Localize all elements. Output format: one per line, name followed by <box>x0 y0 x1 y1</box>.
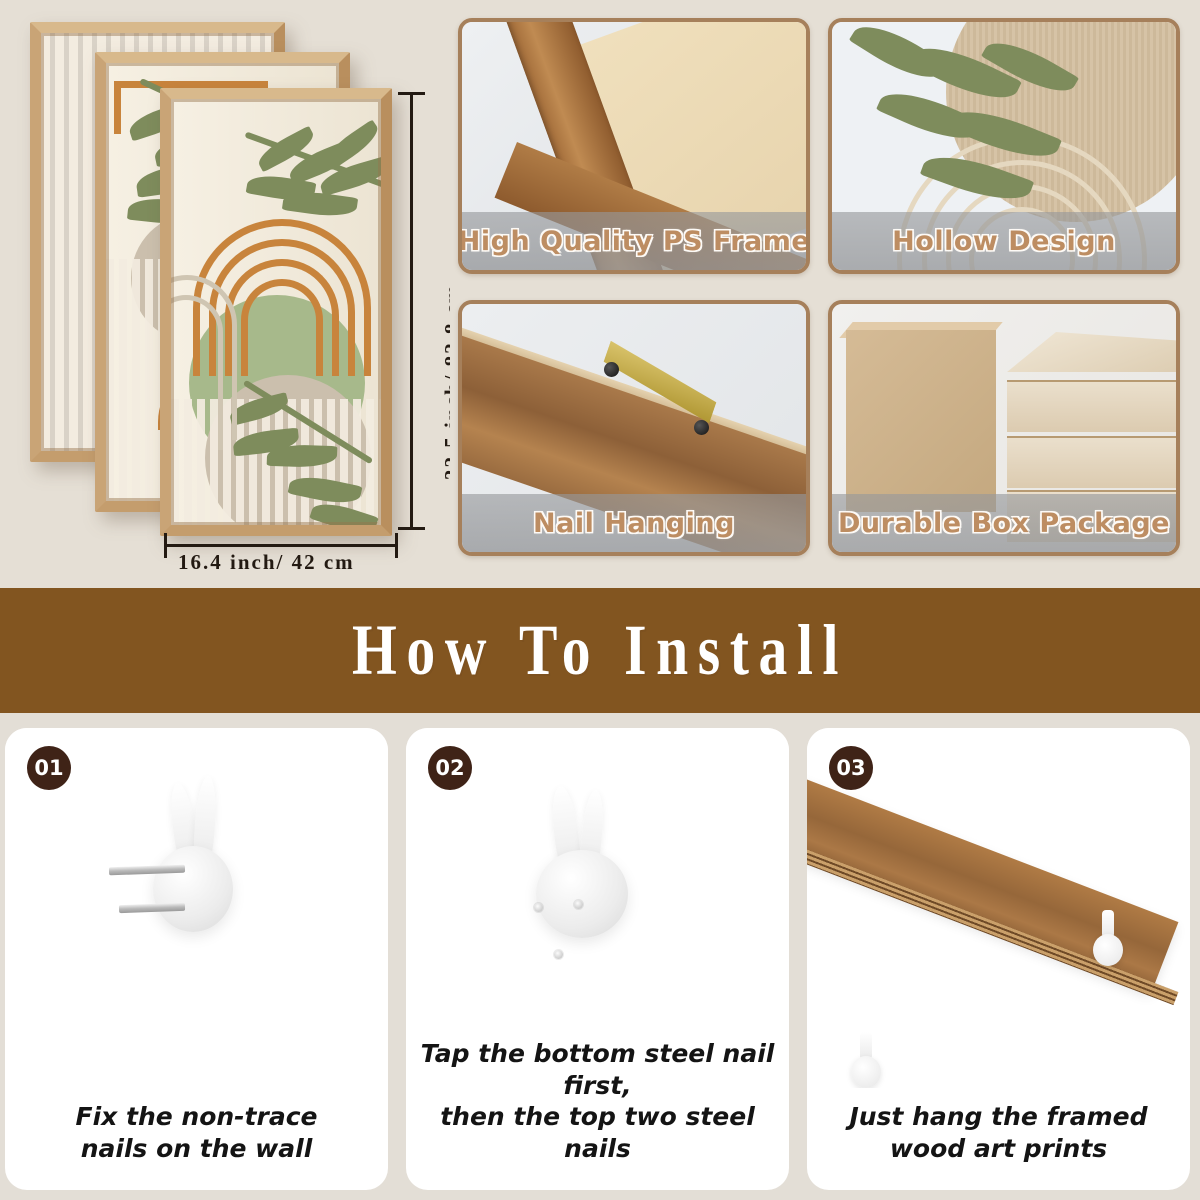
hook-body-icon <box>153 846 233 932</box>
width-dimension-cap-right <box>395 533 398 558</box>
step-number-badge: 02 <box>428 746 472 790</box>
install-step-caption-3: Just hang the framed wood art prints <box>807 1101 1190 1164</box>
wall-hook-icon <box>1093 910 1123 966</box>
steel-nail-head-icon <box>574 900 583 909</box>
caption-line: Fix the non-trace <box>19 1101 374 1133</box>
feature-card-box[interactable]: Durable Box Package <box>828 300 1180 556</box>
height-dimension-line <box>410 92 413 530</box>
banner-title: How To Install <box>352 609 848 692</box>
feature-label-hollow: Hollow Design <box>892 226 1116 257</box>
product-dimensions-photo: 32.5 inch/ 82.8 cm 16.4 inch/ 42 cm <box>0 0 450 588</box>
hook-body-icon <box>536 850 628 938</box>
wood-art-panel-front <box>160 88 392 536</box>
product-infographic: 32.5 inch/ 82.8 cm 16.4 inch/ 42 cm High… <box>0 0 1200 1200</box>
feature-label-frame: High Quality PS Frame <box>458 226 810 257</box>
feature-label-band: Hollow Design <box>832 212 1176 270</box>
caption-line: wood art prints <box>821 1133 1176 1165</box>
feature-card-nail[interactable]: Nail Hanging <box>458 300 810 556</box>
height-dimension-cap-top <box>398 92 425 95</box>
width-dimension-label: 16.4 inch/ 42 cm <box>178 550 355 575</box>
install-step-card-1[interactable]: 01 Fix the non-trace nails on the wall <box>5 728 388 1190</box>
install-step-card-2[interactable]: 02 Tap the bottom steel nail first, then… <box>406 728 789 1190</box>
feature-label-nail: Nail Hanging <box>533 508 735 539</box>
box-stack-layer <box>1007 380 1176 432</box>
width-dimension-cap-left <box>164 533 167 558</box>
line-arch-shape <box>171 295 223 450</box>
feature-label-box: Durable Box Package <box>838 508 1170 539</box>
screw-icon <box>604 362 619 377</box>
caption-line: Just hang the framed <box>821 1101 1176 1133</box>
feature-label-band: Nail Hanging <box>462 494 806 552</box>
steel-nail-head-icon <box>554 950 563 959</box>
feature-card-hollow[interactable]: Hollow Design <box>828 18 1180 274</box>
install-step-caption-2: Tap the bottom steel nail first, then th… <box>406 1038 789 1164</box>
orange-arch-shape <box>241 279 323 376</box>
wall-hook-icon <box>851 1032 881 1088</box>
top-section: 32.5 inch/ 82.8 cm 16.4 inch/ 42 cm High… <box>0 0 1200 588</box>
box-lid <box>1007 332 1176 372</box>
box-front-face <box>846 330 996 512</box>
install-step-card-3[interactable]: 03 Just hang the framed wood art prints <box>807 728 1190 1190</box>
caption-line: Tap the bottom steel nail first, <box>420 1038 775 1101</box>
how-to-install-banner: How To Install <box>0 588 1200 713</box>
feature-label-band: Durable Box Package <box>832 494 1176 552</box>
width-dimension-line <box>164 544 398 547</box>
step-number-badge: 01 <box>27 746 71 790</box>
height-dimension-cap-bottom <box>398 527 425 530</box>
install-step-caption-1: Fix the non-trace nails on the wall <box>5 1101 388 1164</box>
step-number-badge: 03 <box>829 746 873 790</box>
frame-artwork <box>171 99 381 525</box>
box-stack-layer <box>1007 436 1176 488</box>
steel-nail-head-icon <box>534 903 543 912</box>
screw-icon <box>694 420 709 435</box>
feature-label-band: High Quality PS Frame <box>462 212 806 270</box>
hook-round <box>1093 934 1123 966</box>
caption-line: nails on the wall <box>19 1133 374 1165</box>
height-dimension-label: 32.5 inch/ 82.8 cm <box>440 284 450 480</box>
hook-round <box>851 1056 881 1088</box>
install-steps-section: 01 Fix the non-trace nails on the wall 0… <box>0 713 1200 1200</box>
caption-line: then the top two steel nails <box>420 1101 775 1164</box>
feature-card-frame[interactable]: High Quality PS Frame <box>458 18 810 274</box>
